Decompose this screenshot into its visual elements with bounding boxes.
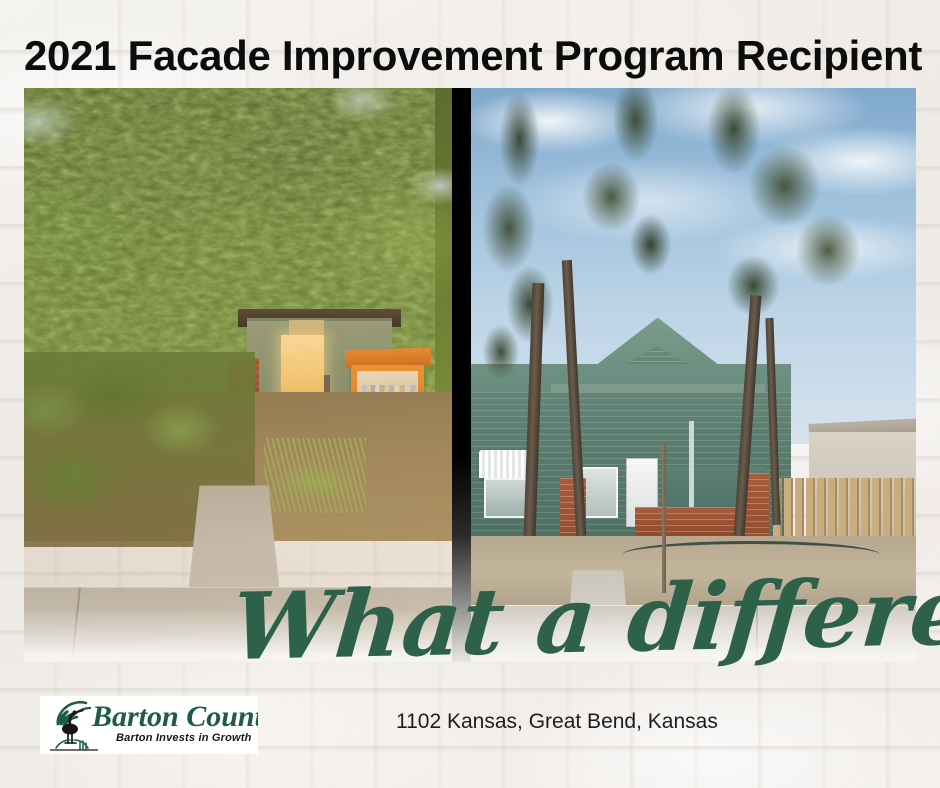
poster-canvas: 2021 Facade Improvement Program Recipien… <box>0 0 940 788</box>
property-address: 1102 Kansas, Great Bend, Kansas <box>396 708 816 736</box>
before-grass-clump <box>264 438 367 513</box>
script-overlay-text: What a difference! <box>227 559 896 683</box>
barton-county-logo: Barton County Barton Invests in Growth <box>40 696 258 754</box>
wood-picket-fence <box>773 478 916 535</box>
page-title: 2021 Facade Improvement Program Recipien… <box>24 32 916 80</box>
logo-tagline-text: Barton Invests in Growth <box>116 732 252 745</box>
logo-name-text: Barton County <box>92 700 258 734</box>
